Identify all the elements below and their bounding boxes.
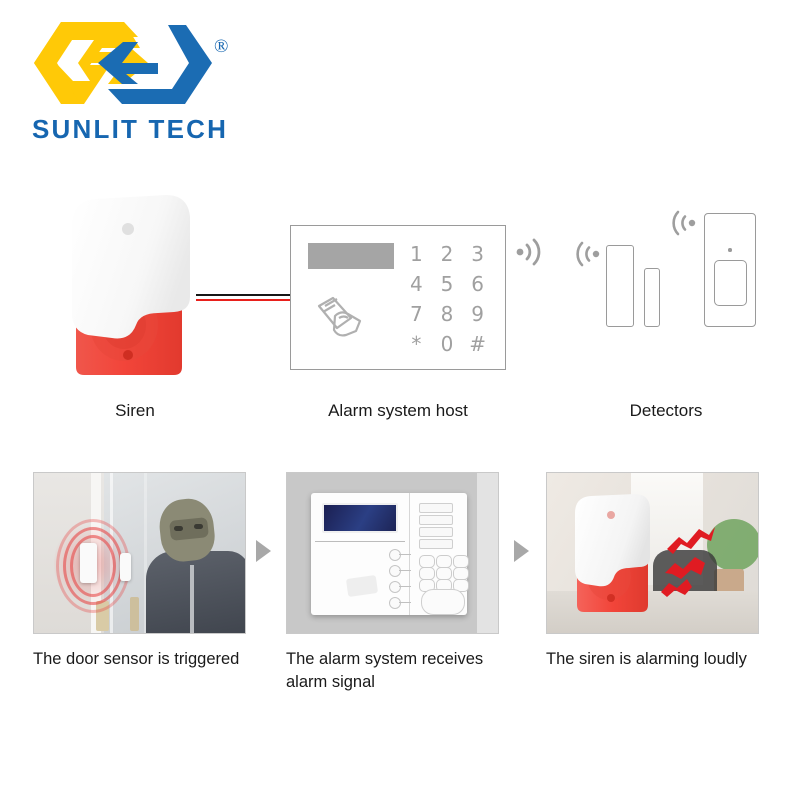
keypad-key[interactable]: 9 xyxy=(462,299,493,329)
rfid-card-hand-icon xyxy=(311,292,371,350)
alarm-flow-steps: The door sensor is triggered xyxy=(0,472,800,722)
siren-label: Siren xyxy=(60,401,210,421)
siren-device-in-photo xyxy=(569,489,661,617)
system-topology-diagram: 1 2 3 4 5 6 7 8 9 * 0 # xyxy=(0,175,800,440)
pir-motion-detector-led xyxy=(728,248,732,252)
door-window-contact-sensor-magnet xyxy=(644,268,660,327)
panel-lcd-screen xyxy=(322,503,398,533)
keypad-key[interactable]: 5 xyxy=(432,269,463,299)
sound-wave-arrow-icon xyxy=(665,525,717,557)
keypad-key[interactable]: 1 xyxy=(401,239,432,269)
flow-step-3-caption: The siren is alarming loudly xyxy=(546,648,759,671)
wireless-signal-icon xyxy=(570,238,604,270)
panel-navigation-pad xyxy=(421,589,465,615)
sound-wave-arrow-icon xyxy=(659,577,695,599)
alarm-panel-device xyxy=(311,493,467,615)
door-window-contact-sensor-body xyxy=(606,245,634,327)
detectors-label: Detectors xyxy=(566,401,766,421)
registered-trademark-icon: ® xyxy=(214,37,228,56)
alarm-host-illustration: 1 2 3 4 5 6 7 8 9 * 0 # xyxy=(290,225,506,370)
keypad-key[interactable]: 6 xyxy=(462,269,493,299)
keypad-key[interactable]: 2 xyxy=(432,239,463,269)
intruder-figure xyxy=(146,499,246,634)
flow-step-2-caption: The alarm system receives alarm signal xyxy=(286,648,499,694)
wireless-signal-icon xyxy=(512,235,546,269)
detectors-illustration xyxy=(566,205,766,375)
intruder-at-door-photo xyxy=(33,472,246,634)
host-label: Alarm system host xyxy=(290,401,506,421)
panel-rfid-area xyxy=(346,575,378,597)
keypad-key[interactable]: 3 xyxy=(462,239,493,269)
flow-step-3: The siren is alarming loudly xyxy=(546,472,759,671)
right-triangle-arrow-icon xyxy=(514,540,529,562)
wireless-signal-icon xyxy=(666,207,700,239)
flow-step-2: The alarm system receives alarm signal xyxy=(286,472,499,694)
keypad-key[interactable]: 7 xyxy=(401,299,432,329)
sunlit-tech-diamond-logo-icon xyxy=(28,18,218,108)
host-keypad: 1 2 3 4 5 6 7 8 9 * 0 # xyxy=(401,239,493,359)
keypad-key[interactable]: # xyxy=(462,329,493,359)
flow-step-1: The door sensor is triggered xyxy=(33,472,246,671)
brand-wordmark: SUNLIT TECH xyxy=(32,114,228,145)
right-triangle-arrow-icon xyxy=(256,540,271,562)
keypad-key[interactable]: 8 xyxy=(432,299,463,329)
brand-logo-block: ® SUNLIT TECH xyxy=(28,18,258,148)
keypad-key[interactable]: 0 xyxy=(432,329,463,359)
keypad-key[interactable]: * xyxy=(401,329,432,359)
alarm-panel-photo xyxy=(286,472,499,634)
host-display-screen xyxy=(308,243,394,269)
pir-motion-detector-lens xyxy=(714,260,747,306)
keypad-key[interactable]: 4 xyxy=(401,269,432,299)
door-sensor-in-photo xyxy=(80,543,97,583)
siren-illustration xyxy=(62,185,212,390)
flow-step-1-caption: The door sensor is triggered xyxy=(33,648,246,671)
siren-alarming-photo xyxy=(546,472,759,634)
